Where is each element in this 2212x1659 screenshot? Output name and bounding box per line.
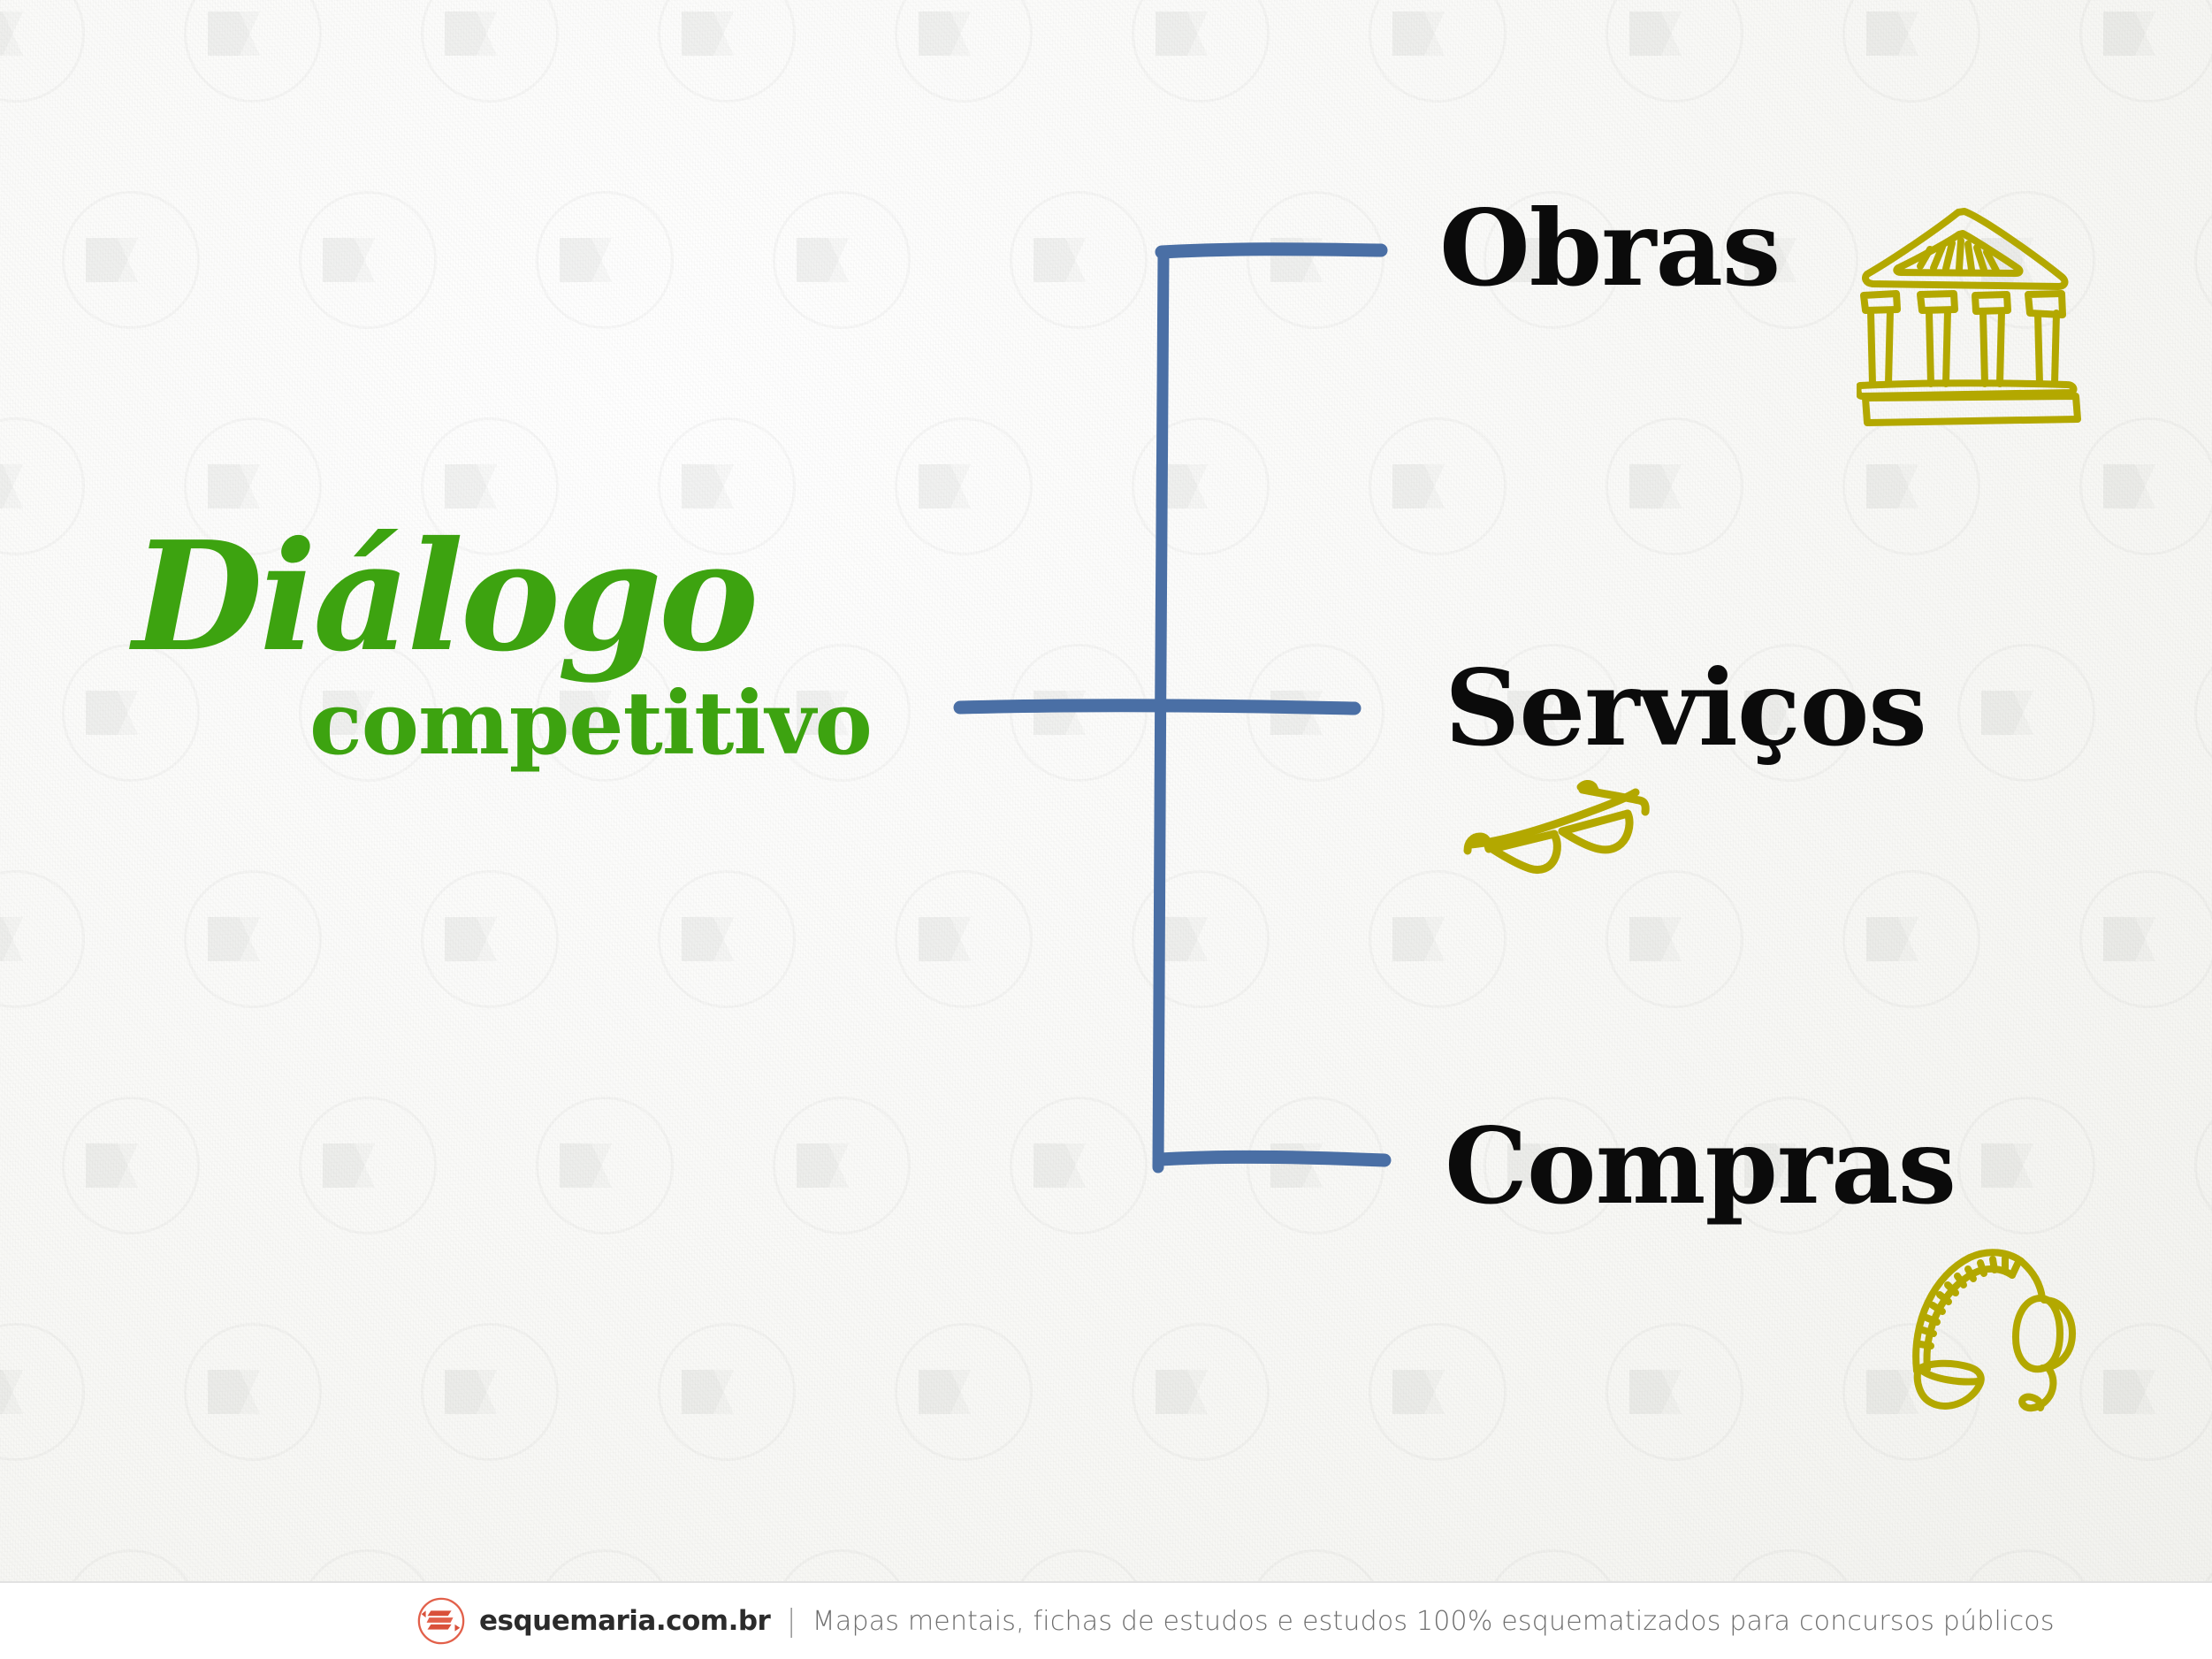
branch-label-compras[interactable]: Compras [1445, 1114, 1956, 1219]
headset-icon [1892, 1229, 2122, 1459]
eyeglasses-icon [1459, 778, 1662, 902]
footer-content: esquemaria.com.br | Mapas mentais, ficha… [416, 1595, 2055, 1647]
footer-tagline: Mapas mentais, fichas de estudos e estud… [812, 1606, 2055, 1637]
footer-bar: esquemaria.com.br | Mapas mentais, ficha… [0, 1581, 2212, 1659]
esquemaria-logo-icon[interactable] [416, 1595, 467, 1647]
footer-separator: | [786, 1603, 796, 1639]
mindmap-canvas: Diálogo competitivo Obras [0, 0, 2212, 1659]
footer-brand-name[interactable]: esquemaria.com.br [479, 1605, 770, 1637]
branch-label-obras[interactable]: Obras [1439, 196, 1780, 301]
classical-building-icon [1857, 196, 2113, 453]
branch-label-servicos[interactable]: Serviços [1445, 656, 1926, 761]
